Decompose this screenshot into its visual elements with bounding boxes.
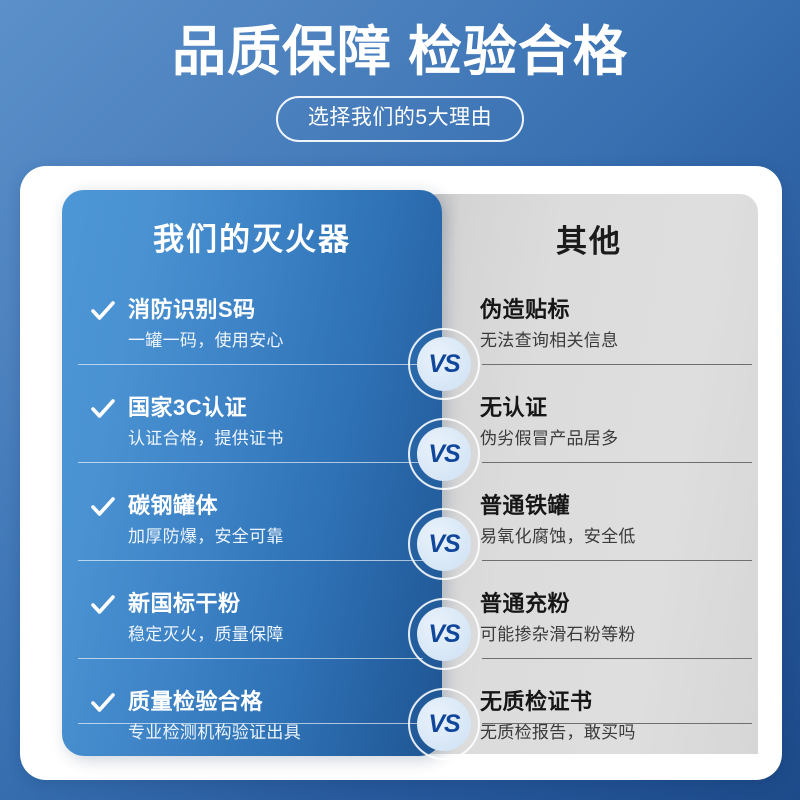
subtitle-pill: 选择我们的5大理由: [276, 96, 524, 142]
row-divider-left: [78, 560, 423, 561]
vs-badge: VS: [408, 328, 480, 400]
row-ours-cell: 碳钢罐体 加厚防爆，安全可靠: [90, 480, 420, 578]
page-title: 品质保障 检验合格: [0, 0, 800, 82]
comparison-row: 国家3C认证 认证合格，提供证书 无认证 伪劣假冒产品居多: [20, 382, 782, 480]
vs-label: VS: [417, 337, 471, 391]
row-others-title: 伪造贴标: [480, 296, 760, 324]
row-ours-subtitle: 认证合格，提供证书: [90, 427, 420, 450]
row-others-subtitle: 无法查询相关信息: [480, 329, 760, 352]
comparison-row: 碳钢罐体 加厚防爆，安全可靠 普通铁罐 易氧化腐蚀，安全低: [20, 480, 782, 578]
check-icon: [90, 494, 116, 520]
row-divider-left: [78, 364, 423, 365]
row-ours-subtitle: 稳定灭火，质量保障: [90, 623, 420, 646]
row-others-title: 普通充粉: [480, 590, 760, 618]
row-divider-left: [78, 723, 423, 724]
row-ours-title: 碳钢罐体: [90, 492, 420, 520]
row-ours-cell: 质量检验合格 专业检测机构验证出具: [90, 676, 420, 774]
row-others-cell: 伪造贴标 无法查询相关信息: [480, 284, 760, 382]
comparison-card: 我们的灭火器 其他 消防识别S码 一罐一码，使用安心 伪造贴标 无法查询相关信息: [20, 166, 782, 780]
row-others-cell: 普通充粉 可能掺杂滑石粉等粉: [480, 578, 760, 676]
row-others-subtitle: 易氧化腐蚀，安全低: [480, 525, 760, 548]
row-others-subtitle: 可能掺杂滑石粉等粉: [480, 623, 760, 646]
row-ours-cell: 消防识别S码 一罐一码，使用安心: [90, 284, 420, 382]
row-others-subtitle: 伪劣假冒产品居多: [480, 427, 760, 450]
row-ours-title: 消防识别S码: [90, 296, 420, 324]
row-others-cell: 无质检证书 无质检报告，敢买吗: [480, 676, 760, 774]
row-ours-subtitle: 专业检测机构验证出具: [90, 721, 420, 744]
check-icon: [90, 592, 116, 618]
row-ours-subtitle: 一罐一码，使用安心: [90, 329, 420, 352]
row-ours-subtitle: 加厚防爆，安全可靠: [90, 525, 420, 548]
check-icon: [90, 396, 116, 422]
row-others-title: 普通铁罐: [480, 492, 760, 520]
row-divider-right: [482, 462, 752, 463]
row-divider-right: [482, 364, 752, 365]
row-divider-left: [78, 658, 423, 659]
others-column-heading: 其他: [420, 224, 758, 260]
row-ours-title: 质量检验合格: [90, 688, 420, 716]
row-ours-title: 国家3C认证: [90, 394, 420, 422]
row-others-title: 无质检证书: [480, 688, 760, 716]
vs-badge: VS: [408, 598, 480, 670]
ours-column-heading: 我们的灭火器: [62, 222, 442, 258]
comparison-row: 质量检验合格 专业检测机构验证出具 无质检证书 无质检报告，敢买吗: [20, 676, 782, 774]
row-others-title: 无认证: [480, 394, 760, 422]
row-divider-left: [78, 462, 423, 463]
vs-label: VS: [417, 427, 471, 481]
row-ours-title: 新国标干粉: [90, 590, 420, 618]
row-ours-cell: 新国标干粉 稳定灭火，质量保障: [90, 578, 420, 676]
row-divider-right: [482, 723, 752, 724]
row-others-subtitle: 无质检报告，敢买吗: [480, 721, 760, 744]
promo-comparison-page: 品质保障 检验合格 选择我们的5大理由 我们的灭火器 其他 消防识别S码 一罐一…: [0, 0, 800, 800]
vs-badge: VS: [408, 508, 480, 580]
vs-label: VS: [417, 517, 471, 571]
row-ours-cell: 国家3C认证 认证合格，提供证书: [90, 382, 420, 480]
vs-badge: VS: [408, 418, 480, 490]
comparison-row: 新国标干粉 稳定灭火，质量保障 普通充粉 可能掺杂滑石粉等粉: [20, 578, 782, 676]
row-others-cell: 普通铁罐 易氧化腐蚀，安全低: [480, 480, 760, 578]
row-divider-right: [482, 658, 752, 659]
row-others-cell: 无认证 伪劣假冒产品居多: [480, 382, 760, 480]
vs-label: VS: [417, 697, 471, 751]
vs-label: VS: [417, 607, 471, 661]
page-header: 品质保障 检验合格 选择我们的5大理由: [0, 0, 800, 160]
row-divider-right: [482, 560, 752, 561]
check-icon: [90, 298, 116, 324]
vs-badge: VS: [408, 688, 480, 760]
check-icon: [90, 690, 116, 716]
comparison-row: 消防识别S码 一罐一码，使用安心 伪造贴标 无法查询相关信息: [20, 284, 782, 382]
